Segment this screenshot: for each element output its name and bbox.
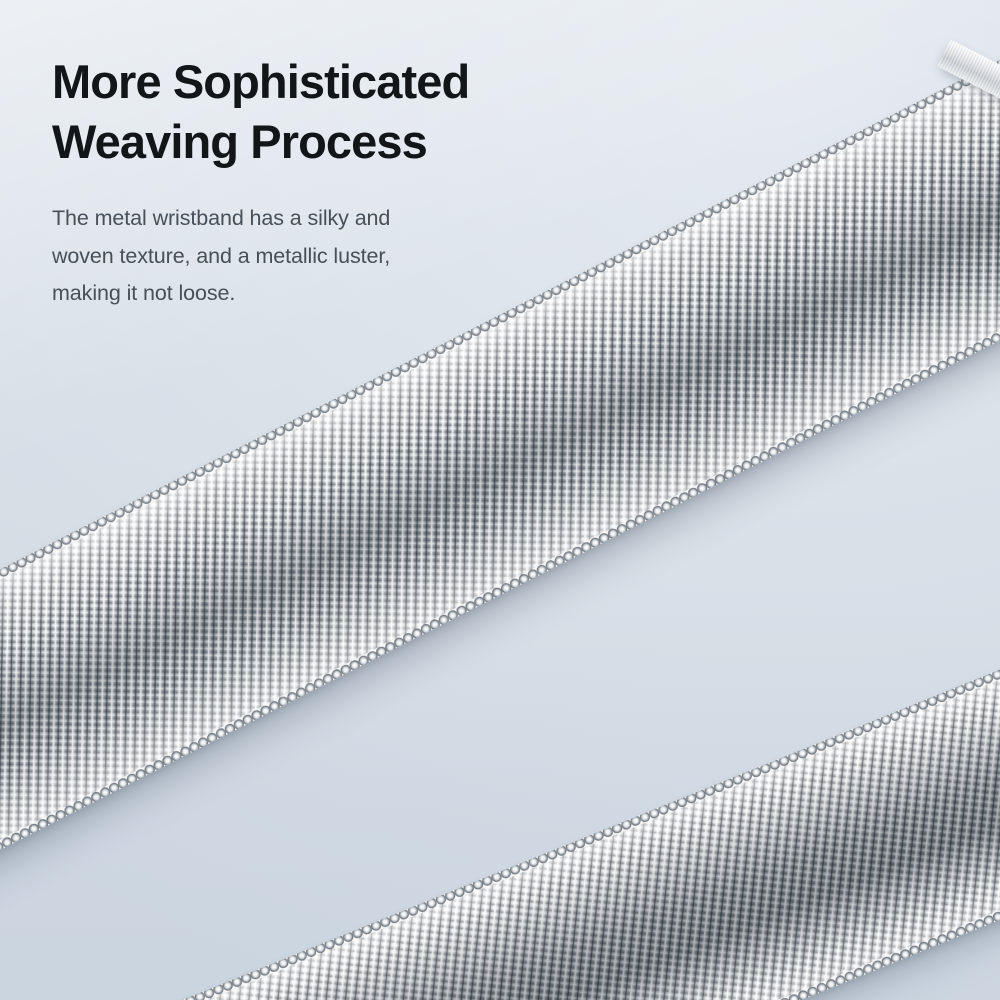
- product-feature-banner: More Sophisticated Weaving Process The m…: [0, 0, 1000, 1000]
- headline: More Sophisticated Weaving Process: [52, 52, 612, 172]
- body-text: The metal wristband has a silky and wove…: [52, 200, 612, 312]
- copy-block: More Sophisticated Weaving Process The m…: [52, 52, 612, 313]
